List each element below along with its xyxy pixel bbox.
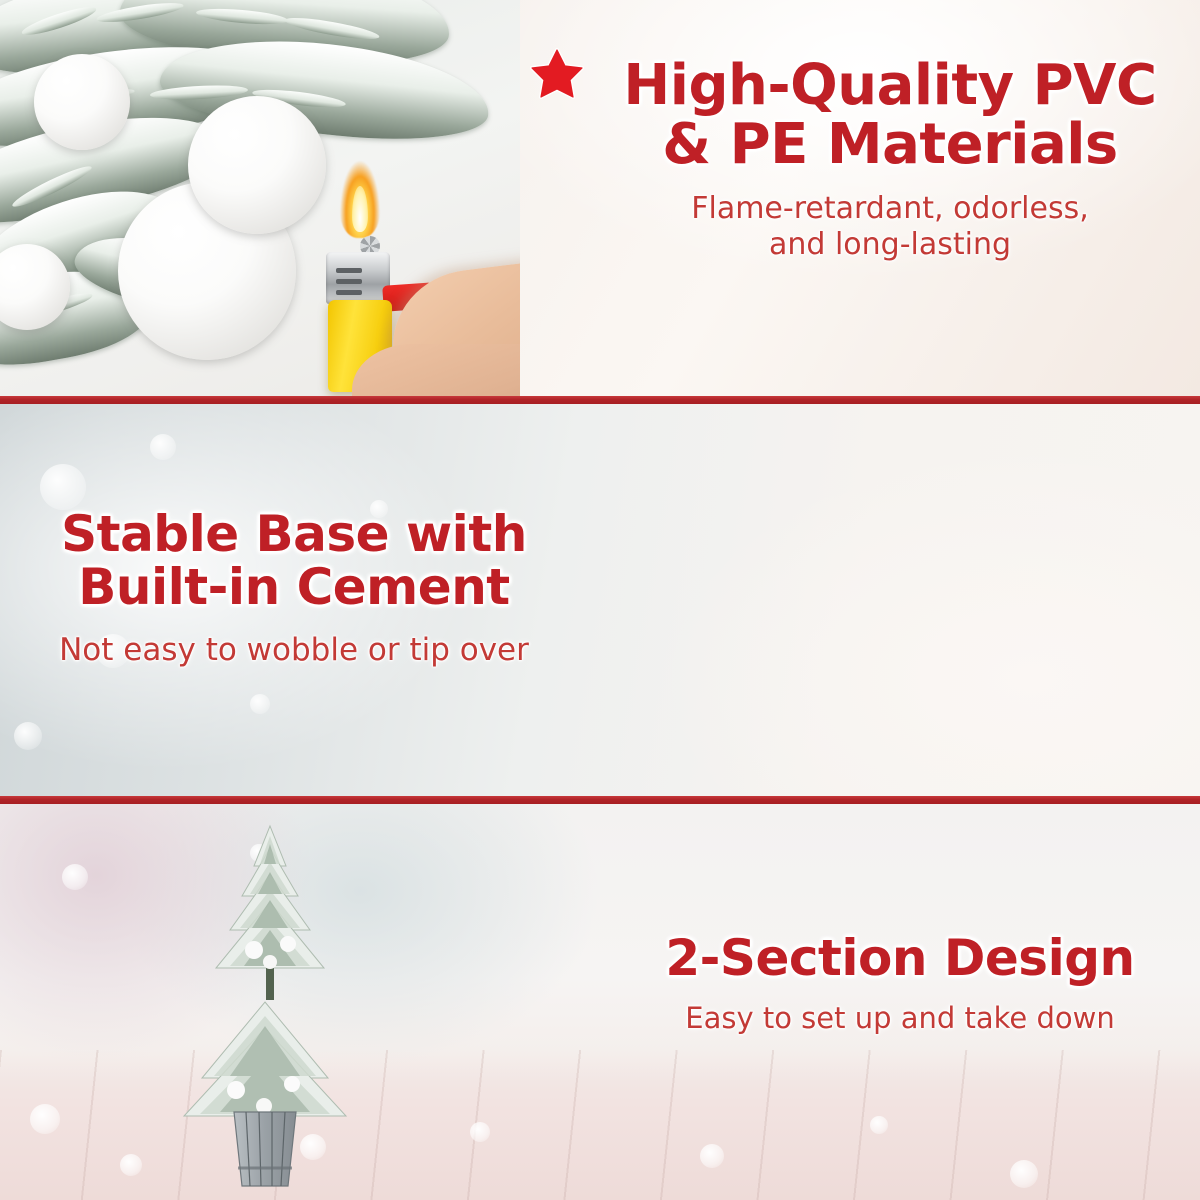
panel-1-headline: High-Quality PVC & PE Materials xyxy=(600,56,1180,175)
panel-2-headline-line1: Stable Base with xyxy=(61,505,527,563)
snow-bokeh xyxy=(1010,1160,1038,1188)
lighter-vent-slot xyxy=(336,290,362,295)
feature-panel-two-section: 2-Section Design Easy to set up and take… xyxy=(0,804,1200,1200)
snow-bokeh xyxy=(62,864,88,890)
panel-1-headline-line2: & PE Materials xyxy=(662,112,1118,177)
foam-ball-ornament xyxy=(34,54,130,150)
panel-2-text-block: Stable Base with Built-in Cement Not eas… xyxy=(24,508,564,670)
panel-1-subtext-line1: Flame-retardant, odorless, xyxy=(691,191,1089,226)
bokeh-light xyxy=(250,694,270,714)
panel-3-text-block: 2-Section Design Easy to set up and take… xyxy=(620,932,1180,1036)
red-star-icon xyxy=(528,46,586,104)
bokeh-light xyxy=(40,464,86,510)
snow-bokeh xyxy=(470,1122,490,1142)
panel-1-headline-line1: High-Quality PVC xyxy=(623,53,1156,118)
foam-ball-ornament xyxy=(188,96,326,234)
snow-bokeh xyxy=(870,1116,888,1134)
panel-divider-1 xyxy=(0,396,1200,404)
panel-3-subtext-line1: Easy to set up and take down xyxy=(685,1001,1114,1035)
panel-3-headline-line1: 2-Section Design xyxy=(665,929,1134,987)
lighter-metal-hood xyxy=(326,252,390,304)
panel-3-headline: 2-Section Design xyxy=(620,932,1180,985)
panel-2-headline: Stable Base with Built-in Cement xyxy=(24,508,564,614)
snow-bokeh xyxy=(30,1104,60,1134)
snow-bokeh xyxy=(120,1154,142,1176)
bokeh-light xyxy=(14,722,42,750)
panel-1-subtext-line2: and long-lasting xyxy=(769,227,1011,262)
lighter-vent-slot xyxy=(336,268,362,273)
hand xyxy=(352,344,520,396)
feature-panel-material: High-Quality PVC & PE Materials Flame-re… xyxy=(0,0,1200,396)
panel-2-subtext-line1: Not easy to wobble or tip over xyxy=(59,632,529,668)
product-infographic: High-Quality PVC & PE Materials Flame-re… xyxy=(0,0,1200,1200)
panel-2-headline-line2: Built-in Cement xyxy=(78,558,509,616)
panel-3-subtext: Easy to set up and take down xyxy=(620,1001,1180,1036)
panel-divider-2 xyxy=(0,796,1200,804)
panel-1-text-block: High-Quality PVC & PE Materials Flame-re… xyxy=(600,56,1180,264)
bokeh-light xyxy=(150,434,176,460)
lighter-vent-slot xyxy=(336,279,362,284)
panel-2-subtext: Not easy to wobble or tip over xyxy=(24,632,564,670)
tree-lower-section-with-planter xyxy=(160,1000,370,1200)
panel-1-subtext: Flame-retardant, odorless, and long-last… xyxy=(600,191,1180,264)
tree-upper-section xyxy=(190,822,350,1022)
snow-bokeh xyxy=(700,1144,724,1168)
lighter-flame-test-photo xyxy=(0,0,520,396)
feature-panel-base: Stable Base with Built-in Cement Not eas… xyxy=(0,404,1200,796)
